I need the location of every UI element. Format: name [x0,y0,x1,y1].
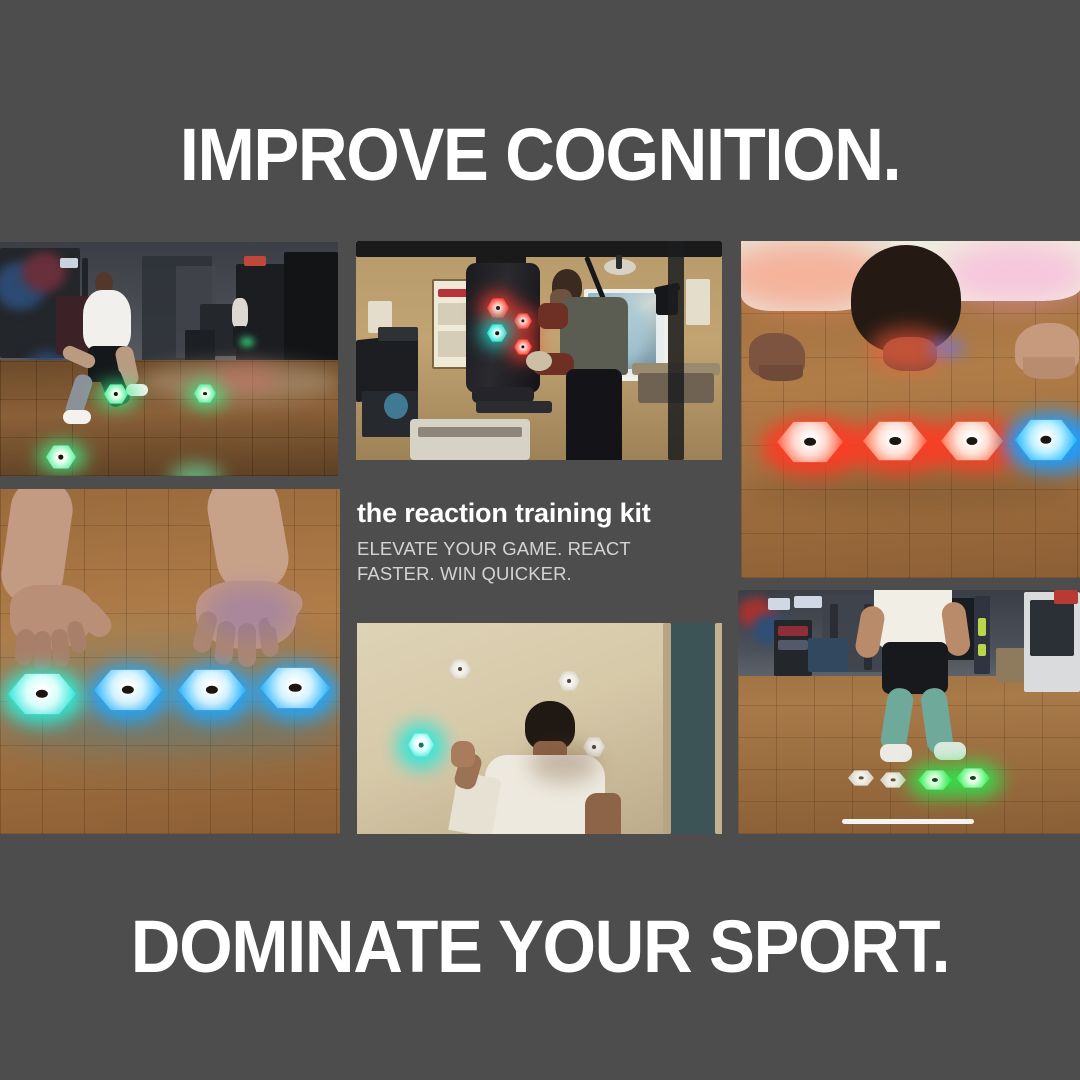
photo-pushup-pucks [741,241,1080,578]
photo-boxing-bag [356,241,722,460]
photo-wall-targets [357,623,722,834]
headline-top: IMPROVE COGNITION. [38,118,1042,192]
photo-agility-drill [0,242,338,476]
poster-canvas: IMPROVE COGNITION. [0,0,1080,1080]
home-indicator-bar [842,819,974,824]
headline-bottom: DOMINATE YOUR SPORT. [38,910,1042,984]
photo-hands-blue-pucks [0,489,340,834]
product-tagline: ELEVATE YOUR GAME. REACT FASTER. WIN QUI… [357,536,697,586]
product-title: the reaction training kit [357,497,717,529]
photo-footwork-green [738,590,1080,834]
product-copy-block: the reaction training kit ELEVATE YOUR G… [357,497,717,586]
